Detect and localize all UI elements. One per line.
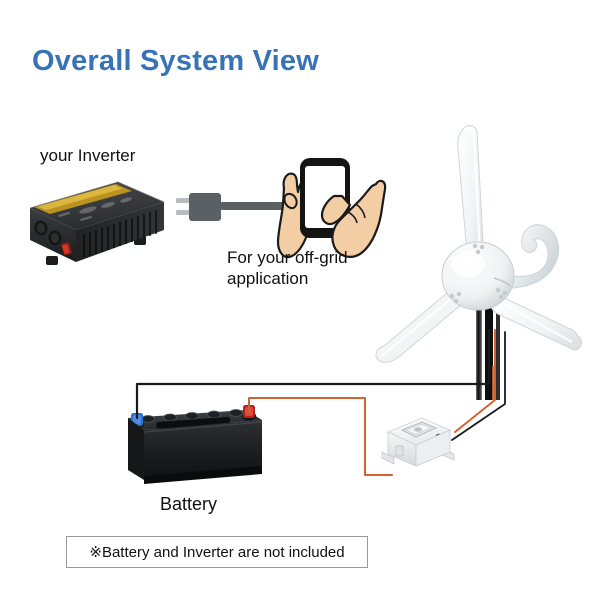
turbine-hub: [442, 242, 514, 310]
charge-controller-icon: [378, 412, 460, 474]
wind-turbine-icon: [372, 110, 600, 400]
offgrid-caption-line1: For your off-grid: [227, 247, 392, 268]
inverter-label: your Inverter: [40, 146, 135, 166]
battery-device: [120, 396, 266, 488]
battery-label: Battery: [160, 494, 217, 515]
page-title: Overall System View: [32, 45, 319, 78]
inverter-icon: [22, 174, 172, 270]
battery-icon: [120, 396, 266, 488]
inverter-device: [22, 174, 172, 270]
system-overview-diagram: Overall System View your Inverter: [0, 0, 600, 600]
disclaimer-box: ※Battery and Inverter are not included: [66, 536, 368, 568]
disclaimer-text: ※Battery and Inverter are not included: [89, 543, 344, 561]
offgrid-application-caption: For your off-grid application: [227, 247, 392, 289]
turbine-tail-fin: [512, 225, 559, 288]
battery-positive-terminal: [242, 405, 256, 421]
offgrid-caption-line2: application: [227, 268, 392, 289]
wind-turbine: [372, 110, 600, 400]
charge-controller-device: [378, 412, 460, 474]
positive-wire: [249, 398, 392, 475]
turbine-blade-lower-right: [491, 296, 582, 350]
